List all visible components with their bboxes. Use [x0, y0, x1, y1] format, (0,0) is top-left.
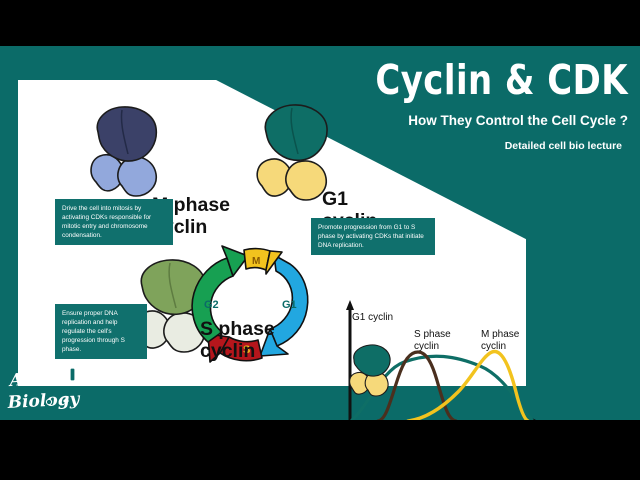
m-phase-cyclin-description: Drive the cell into mitosis by activatin…: [55, 199, 173, 245]
brand-logo[interactable]: Animated Biology: [4, 362, 108, 418]
s-phase-cyclin-label: S phase cyclin: [200, 318, 275, 362]
page-title: Cyclin & CDK: [352, 58, 628, 102]
letterbox-bottom: [0, 420, 640, 480]
g1-cyclin-label-line1: G1: [322, 188, 377, 210]
chart-label-m-phase-cyclin-text: M phase cyclin: [481, 329, 519, 352]
m-phase-cyclin-illustration: [78, 104, 170, 202]
title-block: Cyclin & CDK How They Control the Cell C…: [328, 58, 628, 152]
brand-logo-line2: Biology: [6, 389, 81, 413]
chart-label-g1-cyclin: G1 cyclin: [352, 312, 393, 324]
ring-label-m: M: [252, 256, 260, 267]
page-subtitle: How They Control the Cell Cycle ?: [328, 113, 628, 128]
s-phase-cyclin-label-line2: cyclin: [200, 340, 275, 362]
chart-g1-cyclin-icon: [346, 344, 394, 400]
g1-cyclin-description: Promote progression from G1 to S phase b…: [311, 218, 435, 255]
s-phase-cyclin-label-line1: S phase: [200, 318, 275, 340]
ring-label-g2: G2: [204, 299, 219, 311]
slide-canvas: Cyclin & CDK How They Control the Cell C…: [0, 46, 640, 420]
chart-label-s-phase-cyclin: S phase cyclin: [414, 329, 462, 353]
slide-stage: Cyclin & CDK How They Control the Cell C…: [0, 0, 640, 480]
s-phase-cyclin-description: Ensure proper DNA replication and help r…: [55, 304, 147, 359]
page-tagline: Detailed cell bio lecture: [328, 140, 622, 152]
ring-label-g1: G1: [282, 299, 297, 311]
chart-label-m-phase-cyclin: M phase cyclin: [481, 329, 529, 353]
chart-label-s-phase-cyclin-text: S phase cyclin: [414, 329, 451, 352]
brand-logo-line1: Animated: [7, 365, 102, 391]
letterbox-top: [0, 0, 640, 46]
